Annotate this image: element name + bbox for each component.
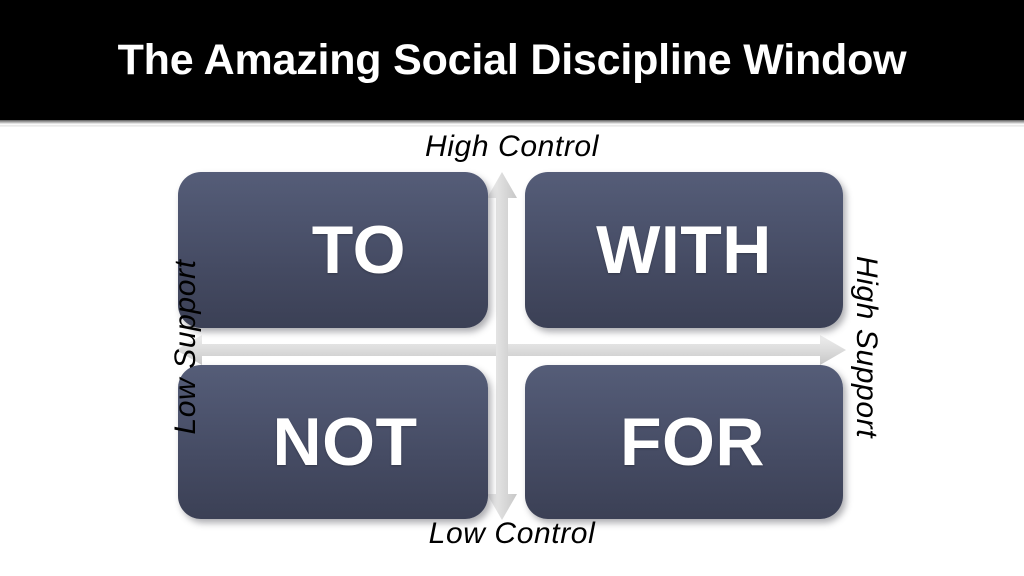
quadrant-not[interactable]: NOT: [178, 365, 488, 519]
quadrant-to[interactable]: TO: [178, 172, 488, 328]
quadrant-for[interactable]: FOR: [525, 365, 843, 519]
social-discipline-window-slide: The Amazing Social Discipline Window TO: [0, 0, 1024, 576]
quadrant-with[interactable]: WITH: [525, 172, 843, 328]
title-underline-divider: [0, 120, 1024, 127]
page-title: The Amazing Social Discipline Window: [0, 0, 1024, 120]
quadrant-not-label: NOT: [272, 408, 417, 476]
axis-label-high-support: High Support: [849, 237, 883, 457]
axis-label-low-control: Low Control: [0, 517, 1024, 551]
quadrant-to-label: TO: [312, 216, 406, 284]
axis-label-low-support: Low Support: [169, 237, 203, 457]
double-headed-vertical-arrow-icon: [486, 172, 518, 520]
quadrant-with-label: WITH: [596, 216, 772, 284]
title-bar: The Amazing Social Discipline Window: [0, 0, 1024, 120]
axis-label-high-control: High Control: [0, 130, 1024, 164]
quadrant-for-label: FOR: [620, 408, 765, 476]
